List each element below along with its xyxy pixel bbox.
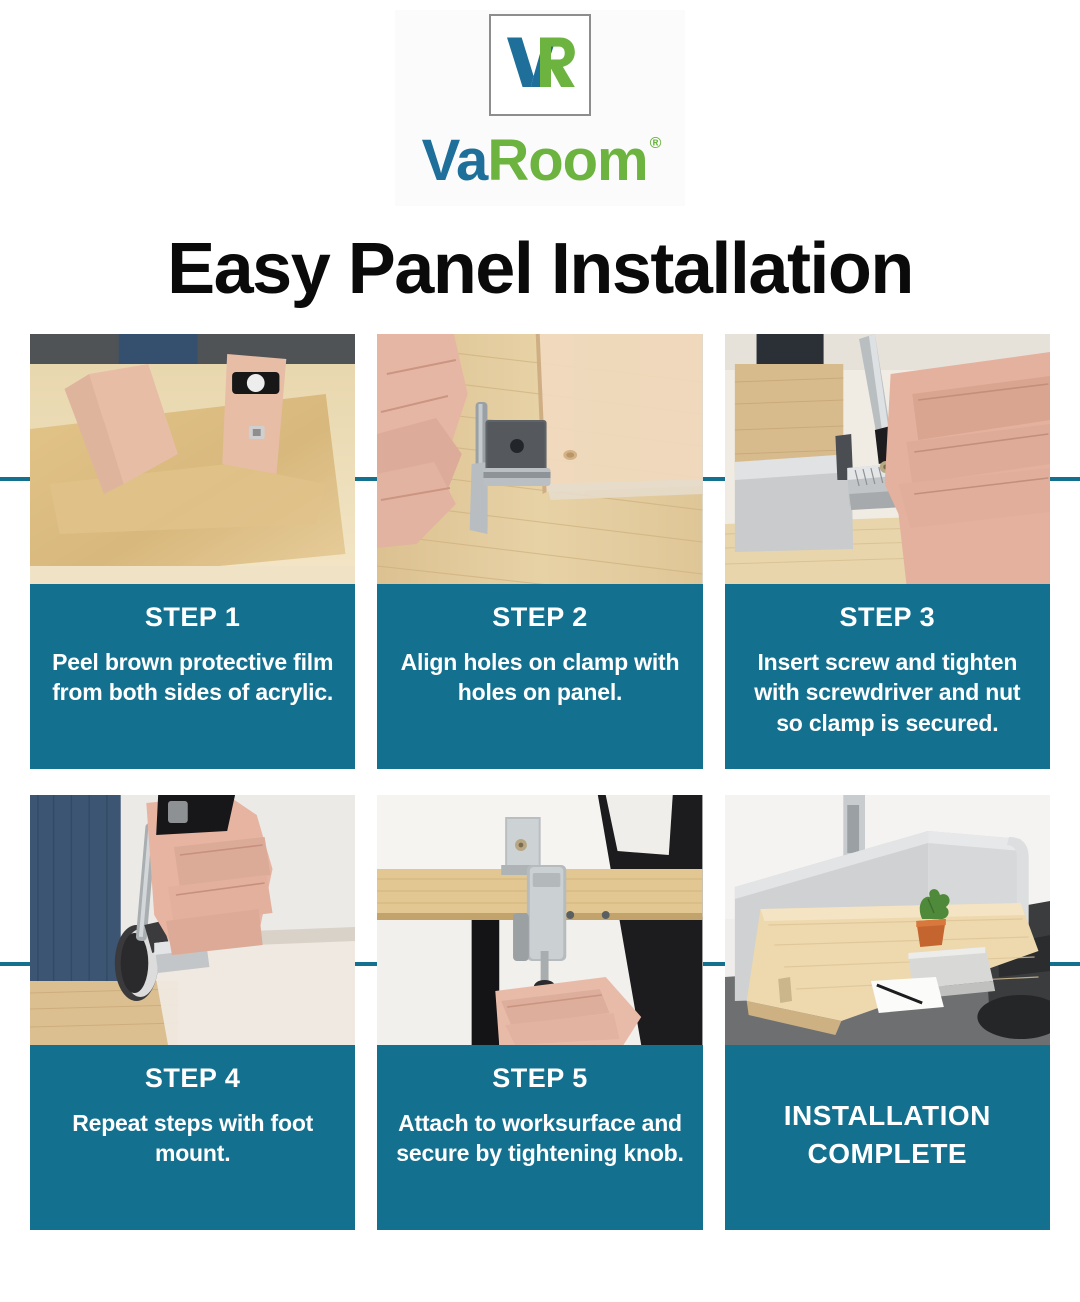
step-card-2: STEP 2 Align holes on clamp with holes o… xyxy=(377,334,702,769)
step-photo-3 xyxy=(725,334,1050,584)
step-description-1: Peel brown protective film from both sid… xyxy=(44,647,341,708)
header: VaRoom® Easy Panel Installation xyxy=(0,0,1080,308)
step-description-2: Align holes on clamp with holes on panel… xyxy=(391,647,688,708)
brand-wordmark-room: Room xyxy=(487,128,647,193)
installation-complete-label: INSTALLATION COMPLETE xyxy=(739,1097,1036,1173)
vr-monogram-icon xyxy=(489,14,591,116)
brand-wordmark-va: Va xyxy=(422,128,488,193)
step-heading-4: STEP 4 xyxy=(44,1063,341,1094)
registered-trademark-icon: ® xyxy=(650,135,661,152)
brand-wordmark: VaRoom® xyxy=(422,132,659,190)
step-heading-5: STEP 5 xyxy=(391,1063,688,1094)
step-description-5: Attach to worksurface and secure by tigh… xyxy=(391,1108,688,1169)
step-description-3: Insert screw and tighten with screwdrive… xyxy=(739,647,1036,739)
step-caption-5: STEP 5 Attach to worksurface and secure … xyxy=(377,1045,702,1230)
step-caption-2: STEP 2 Align holes on clamp with holes o… xyxy=(377,584,702,769)
brand-logo: VaRoom® xyxy=(395,10,685,206)
step-heading-3: STEP 3 xyxy=(739,602,1036,633)
step-caption-1: STEP 1 Peel brown protective film from b… xyxy=(30,584,355,769)
step-description-4: Repeat steps with foot mount. xyxy=(44,1108,341,1169)
page-title: Easy Panel Installation xyxy=(0,232,1080,308)
step-photo-1 xyxy=(30,334,355,584)
step-caption-4: STEP 4 Repeat steps with foot mount. xyxy=(30,1045,355,1230)
steps-grid: STEP 1 Peel brown protective film from b… xyxy=(0,334,1080,1230)
step-photo-4 xyxy=(30,795,355,1045)
step-card-6: INSTALLATION COMPLETE xyxy=(725,795,1050,1230)
step-card-4: STEP 4 Repeat steps with foot mount. xyxy=(30,795,355,1230)
step-caption-6: INSTALLATION COMPLETE xyxy=(725,1045,1050,1230)
step-heading-2: STEP 2 xyxy=(391,602,688,633)
step-photo-2 xyxy=(377,334,702,584)
step-card-1: STEP 1 Peel brown protective film from b… xyxy=(30,334,355,769)
step-card-5: STEP 5 Attach to worksurface and secure … xyxy=(377,795,702,1230)
step-heading-1: STEP 1 xyxy=(44,602,341,633)
step-card-3: STEP 3 Insert screw and tighten with scr… xyxy=(725,334,1050,769)
step-caption-3: STEP 3 Insert screw and tighten with scr… xyxy=(725,584,1050,769)
step-photo-5 xyxy=(377,795,702,1045)
step-photo-6 xyxy=(725,795,1050,1045)
